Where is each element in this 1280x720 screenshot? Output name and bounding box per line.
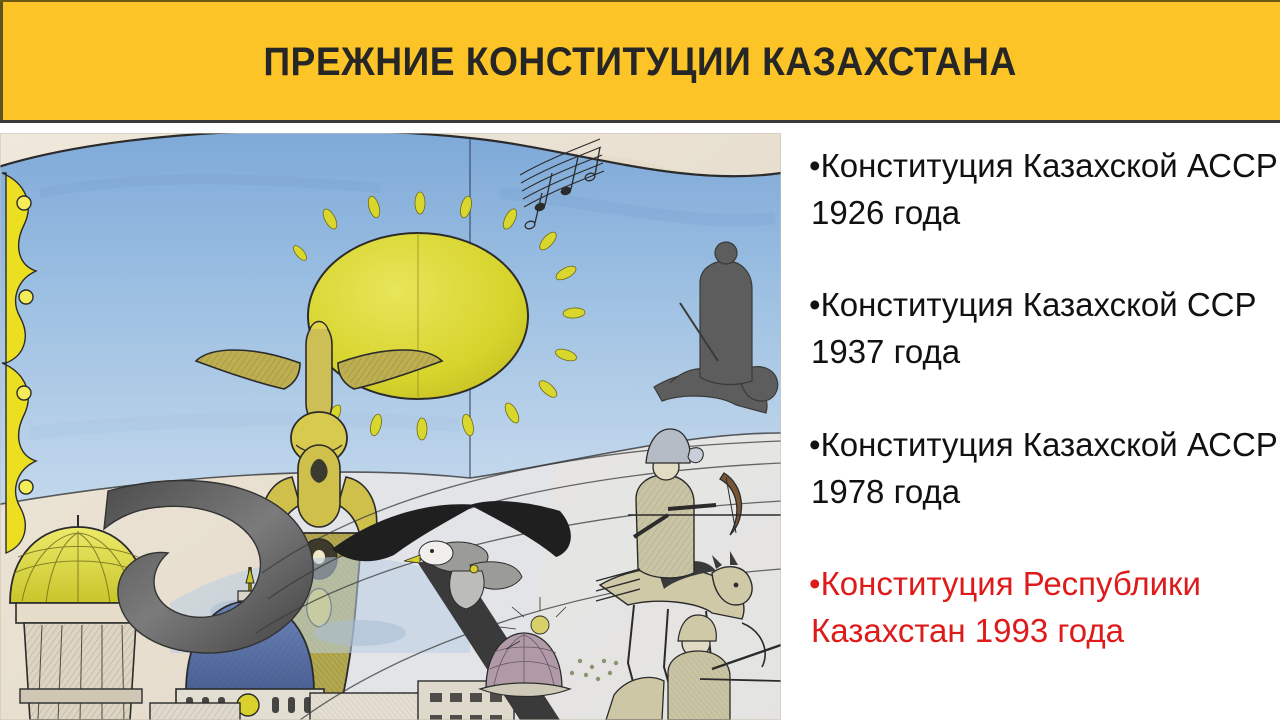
bullet-text: Конституция Казахской АССР 1926 года [811, 147, 1278, 231]
bullet-list: •Конституция Казахской АССР 1926 года •К… [797, 133, 1280, 720]
bullet-marker: • [809, 286, 821, 323]
list-item: •Конституция Казахской АССР 1926 года [803, 142, 1280, 236]
list-item: •Конституция Казахской АССР 1978 года [803, 421, 1280, 515]
list-item: •Конституция Казахской ССР 1937 года [803, 281, 1280, 375]
bullet-text: Конституция Республики Казахстан 1993 го… [811, 565, 1201, 649]
bullet-marker: • [809, 147, 821, 184]
bullet-text: Конституция Казахской ССР 1937 года [811, 286, 1257, 370]
page-title: ПРЕЖНИЕ КОНСТИТУЦИИ КАЗАХСТАНА [263, 40, 1016, 85]
bullet-marker: • [809, 565, 821, 602]
title-banner: ПРЕЖНИЕ КОНСТИТУЦИИ КАЗАХСТАНА [0, 0, 1280, 123]
slide: ПРЕЖНИЕ КОНСТИТУЦИИ КАЗАХСТАНА [0, 0, 1280, 720]
illustration-svg [0, 133, 781, 720]
bullet-text: Конституция Казахской АССР 1978 года [811, 426, 1278, 510]
list-item-highlighted: •Конституция Республики Казахстан 1993 г… [803, 560, 1280, 654]
illustration-image [0, 133, 781, 720]
bullet-marker: • [809, 426, 821, 463]
